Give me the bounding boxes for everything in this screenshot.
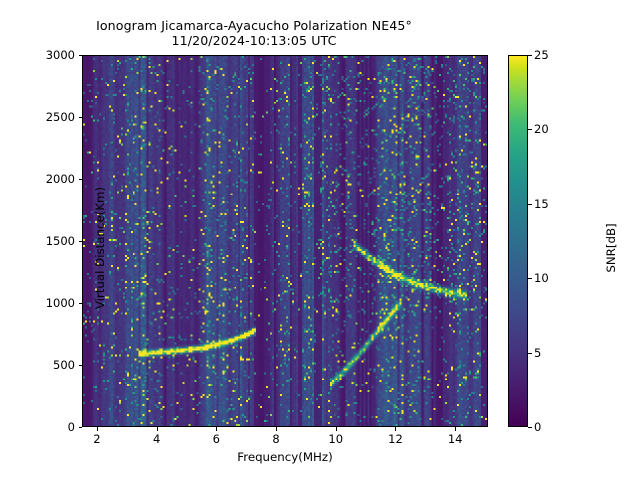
chart-title-line1: Ionogram Jicamarca-Ayacucho Polarization… bbox=[0, 18, 508, 33]
y-tick-label: 0 bbox=[68, 420, 75, 434]
y-tick-mark bbox=[79, 179, 83, 180]
x-axis-label: Frequency(MHz) bbox=[82, 450, 488, 464]
x-tick-label: 6 bbox=[213, 432, 220, 446]
y-tick-mark bbox=[79, 365, 83, 366]
x-tick-label: 8 bbox=[272, 432, 279, 446]
y-tick-mark bbox=[79, 427, 83, 428]
colorbar-tick-label: 0 bbox=[534, 420, 541, 434]
y-tick-label: 1000 bbox=[46, 296, 75, 310]
colorbar-tick-mark bbox=[528, 278, 532, 279]
chart-title-line2: 11/20/2024-10:13:05 UTC bbox=[0, 33, 508, 48]
x-tick-label: 14 bbox=[448, 432, 463, 446]
colorbar-tick-label: 20 bbox=[534, 122, 549, 136]
y-tick-mark bbox=[79, 241, 83, 242]
y-tick-label: 2000 bbox=[46, 172, 75, 186]
x-tick-label: 10 bbox=[328, 432, 343, 446]
y-tick-mark bbox=[79, 303, 83, 304]
x-tick-mark bbox=[455, 427, 456, 431]
colorbar-tick-label: 10 bbox=[534, 271, 549, 285]
ionogram-figure: Ionogram Jicamarca-Ayacucho Polarization… bbox=[0, 0, 640, 480]
colorbar-tick-label: 25 bbox=[534, 48, 549, 62]
x-tick-mark bbox=[216, 427, 217, 431]
colorbar-tick-mark bbox=[528, 55, 532, 56]
y-tick-label: 1500 bbox=[46, 234, 75, 248]
heatmap-canvas bbox=[83, 56, 487, 426]
y-tick-label: 500 bbox=[53, 358, 75, 372]
colorbar bbox=[508, 55, 528, 427]
y-tick-label: 2500 bbox=[46, 110, 75, 124]
y-axis-label: Virtual Distance(Km) bbox=[93, 62, 107, 434]
x-tick-label: 12 bbox=[388, 432, 403, 446]
colorbar-tick-mark bbox=[528, 204, 532, 205]
colorbar-label: SNR[dB] bbox=[604, 62, 618, 434]
x-tick-mark bbox=[276, 427, 277, 431]
colorbar-tick-mark bbox=[528, 129, 532, 130]
y-tick-label: 3000 bbox=[46, 48, 75, 62]
colorbar-tick-label: 15 bbox=[534, 197, 549, 211]
colorbar-tick-mark bbox=[528, 353, 532, 354]
colorbar-tick-mark bbox=[528, 427, 532, 428]
y-tick-mark bbox=[79, 55, 83, 56]
plot-area bbox=[82, 55, 488, 427]
ionogram-heatmap bbox=[83, 56, 487, 426]
chart-title: Ionogram Jicamarca-Ayacucho Polarization… bbox=[0, 18, 508, 48]
x-tick-mark bbox=[157, 427, 158, 431]
colorbar-tick-label: 5 bbox=[534, 346, 541, 360]
y-tick-mark bbox=[79, 117, 83, 118]
x-tick-label: 4 bbox=[153, 432, 160, 446]
x-tick-label: 2 bbox=[93, 432, 100, 446]
x-tick-mark bbox=[336, 427, 337, 431]
x-tick-mark bbox=[395, 427, 396, 431]
